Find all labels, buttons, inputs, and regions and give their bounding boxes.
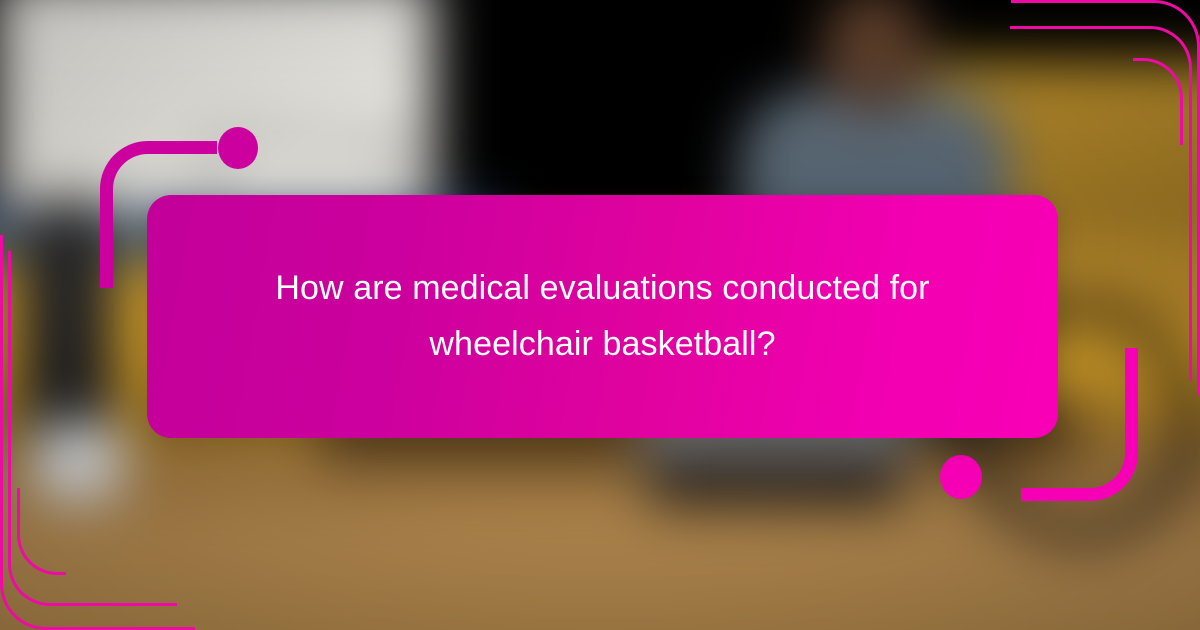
question-title: How are medical evaluations conducted fo… bbox=[183, 261, 1023, 371]
dot-bottom-right-icon bbox=[940, 455, 982, 499]
dot-top-left-icon bbox=[218, 127, 258, 169]
question-card: How are medical evaluations conducted fo… bbox=[147, 195, 1058, 438]
social-card-canvas: How are medical evaluations conducted fo… bbox=[0, 0, 1200, 630]
